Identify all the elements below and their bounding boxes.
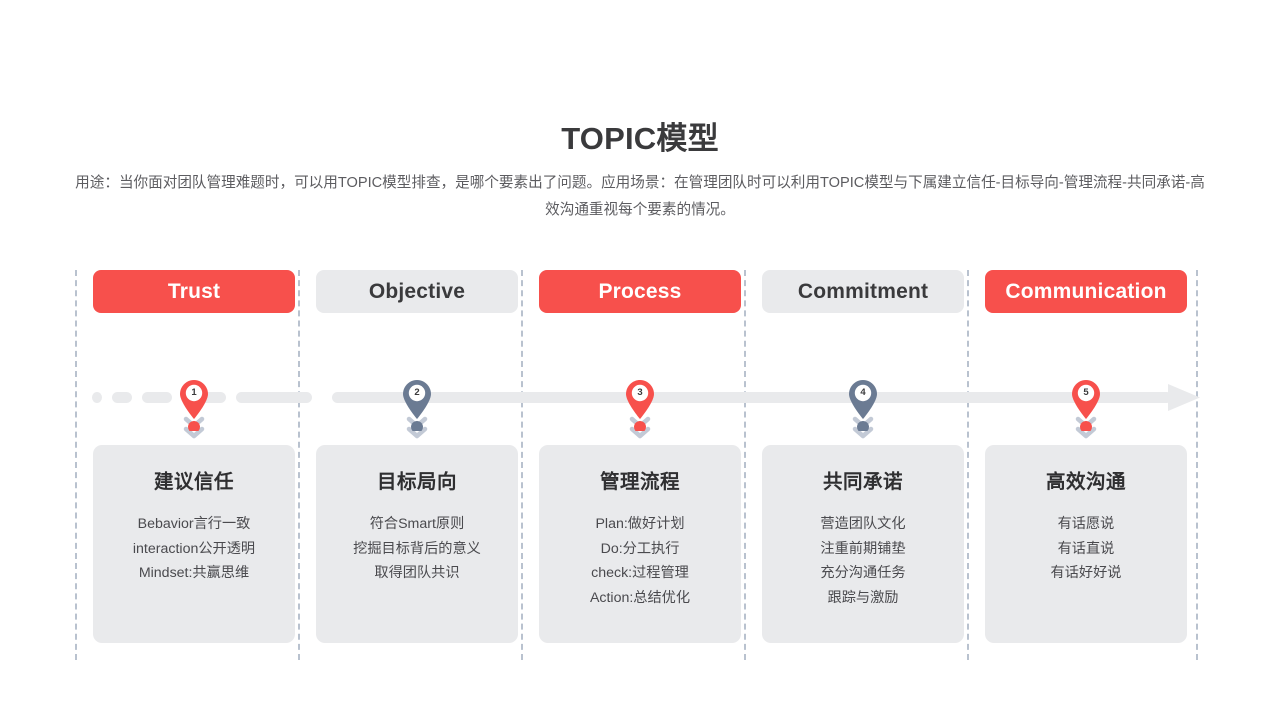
marker-wrap-5: 5 [985, 313, 1187, 401]
marker-number: 4 [853, 388, 873, 398]
map-pin-icon-4[interactable]: 4 [848, 379, 878, 431]
card-lines-4: 营造团队文化 注重前期铺垫 充分沟通任务 跟踪与激励 [820, 512, 905, 610]
marker-number: 1 [184, 388, 204, 398]
card-lines-3: Plan:做好计划 Do:分工执行 check:过程管理 Action:总结优化 [590, 512, 690, 610]
map-pin-icon-2[interactable]: 2 [402, 379, 432, 431]
card-lines-2: 符合Smart原则 挖掘目标背后的意义 取得团队共识 [353, 512, 481, 586]
card-line: check:过程管理 [591, 561, 689, 586]
topic-column-1[interactable]: Trust 1 建议信任 Bebavior言行一致 interactio [93, 270, 295, 643]
topic-column-2[interactable]: Objective 2 目标局向 符合Smart原则 挖掘目标背后的意义 [316, 270, 518, 643]
card-line: Mindset:共赢思维 [139, 561, 249, 586]
card-line: 营造团队文化 [820, 512, 905, 537]
pill-label: Commitment [798, 280, 928, 304]
card-title: 目标局向 [377, 465, 457, 494]
card-title: 高效沟通 [1046, 465, 1126, 494]
marker-wrap-2: 2 [316, 313, 518, 401]
map-pin-icon-5[interactable]: 5 [1071, 379, 1101, 431]
pill-label: Process [598, 280, 681, 304]
marker-wrap-4: 4 [762, 313, 964, 401]
card-line: Action:总结优化 [590, 586, 690, 611]
column-divider-5 [1196, 270, 1198, 660]
card-line: 跟踪与激励 [828, 586, 899, 611]
pill-label: Objective [369, 280, 465, 304]
column-divider-3 [744, 270, 746, 660]
marker-number: 5 [1076, 388, 1096, 398]
column-divider-4 [967, 270, 969, 660]
card-title: 共同承诺 [823, 465, 903, 494]
detail-card-1: 建议信任 Bebavior言行一致 interaction公开透明 Mindse… [93, 445, 295, 643]
card-line: 取得团队共识 [374, 561, 459, 586]
detail-card-3: 管理流程 Plan:做好计划 Do:分工执行 check:过程管理 Action… [539, 445, 741, 643]
detail-card-5: 高效沟通 有话愿说 有话直说 有话好好说 [985, 445, 1187, 643]
map-pin-icon-1[interactable]: 1 [179, 379, 209, 431]
card-line: 有话好好说 [1051, 561, 1122, 586]
pill-trust[interactable]: Trust [93, 270, 295, 313]
page-subtitle: 用途：当你面对团队管理难题时，可以用TOPIC模型排查，是哪个要素出了问题。应用… [74, 170, 1206, 224]
pill-objective[interactable]: Objective [316, 270, 518, 313]
card-line: interaction公开透明 [133, 537, 255, 562]
map-pin-icon-3[interactable]: 3 [625, 379, 655, 431]
marker-wrap-3: 3 [539, 313, 741, 401]
card-line: 挖掘目标背后的意义 [353, 537, 481, 562]
card-line: 充分沟通任务 [820, 561, 905, 586]
marker-wrap-1: 1 [93, 313, 295, 401]
pill-commitment[interactable]: Commitment [762, 270, 964, 313]
card-line: 注重前期铺垫 [820, 537, 905, 562]
page-title: TOPIC模型 [0, 113, 1280, 158]
topic-column-4[interactable]: Commitment 4 共同承诺 营造团队文化 注重前期铺垫 [762, 270, 964, 643]
detail-card-4: 共同承诺 营造团队文化 注重前期铺垫 充分沟通任务 跟踪与激励 [762, 445, 964, 643]
column-divider-2 [521, 270, 523, 660]
card-lines-5: 有话愿说 有话直说 有话好好说 [1051, 512, 1122, 586]
slide-canvas: TOPIC模型 用途：当你面对团队管理难题时，可以用TOPIC模型排查，是哪个要… [0, 0, 1280, 720]
detail-card-2: 目标局向 符合Smart原则 挖掘目标背后的意义 取得团队共识 [316, 445, 518, 643]
card-title: 管理流程 [600, 465, 680, 494]
topic-column-3[interactable]: Process 3 管理流程 Plan:做好计划 Do:分工执行 [539, 270, 741, 643]
card-line: Bebavior言行一致 [138, 512, 251, 537]
card-title: 建议信任 [154, 465, 234, 494]
marker-number: 3 [630, 388, 650, 398]
pill-communication[interactable]: Communication [985, 270, 1187, 313]
card-line: Plan:做好计划 [595, 512, 684, 537]
marker-number: 2 [407, 388, 427, 398]
topic-column-5[interactable]: Communication 5 高效沟通 有话愿说 有话直说 [985, 270, 1187, 643]
pill-label: Trust [168, 280, 220, 304]
card-line: Do:分工执行 [601, 537, 680, 562]
card-line: 有话愿说 [1058, 512, 1115, 537]
column-divider-1 [298, 270, 300, 660]
pill-process[interactable]: Process [539, 270, 741, 313]
pill-label: Communication [1005, 280, 1166, 304]
column-divider-0 [75, 270, 77, 660]
card-lines-1: Bebavior言行一致 interaction公开透明 Mindset:共赢思… [133, 512, 255, 586]
card-line: 符合Smart原则 [370, 512, 465, 537]
card-line: 有话直说 [1058, 537, 1115, 562]
